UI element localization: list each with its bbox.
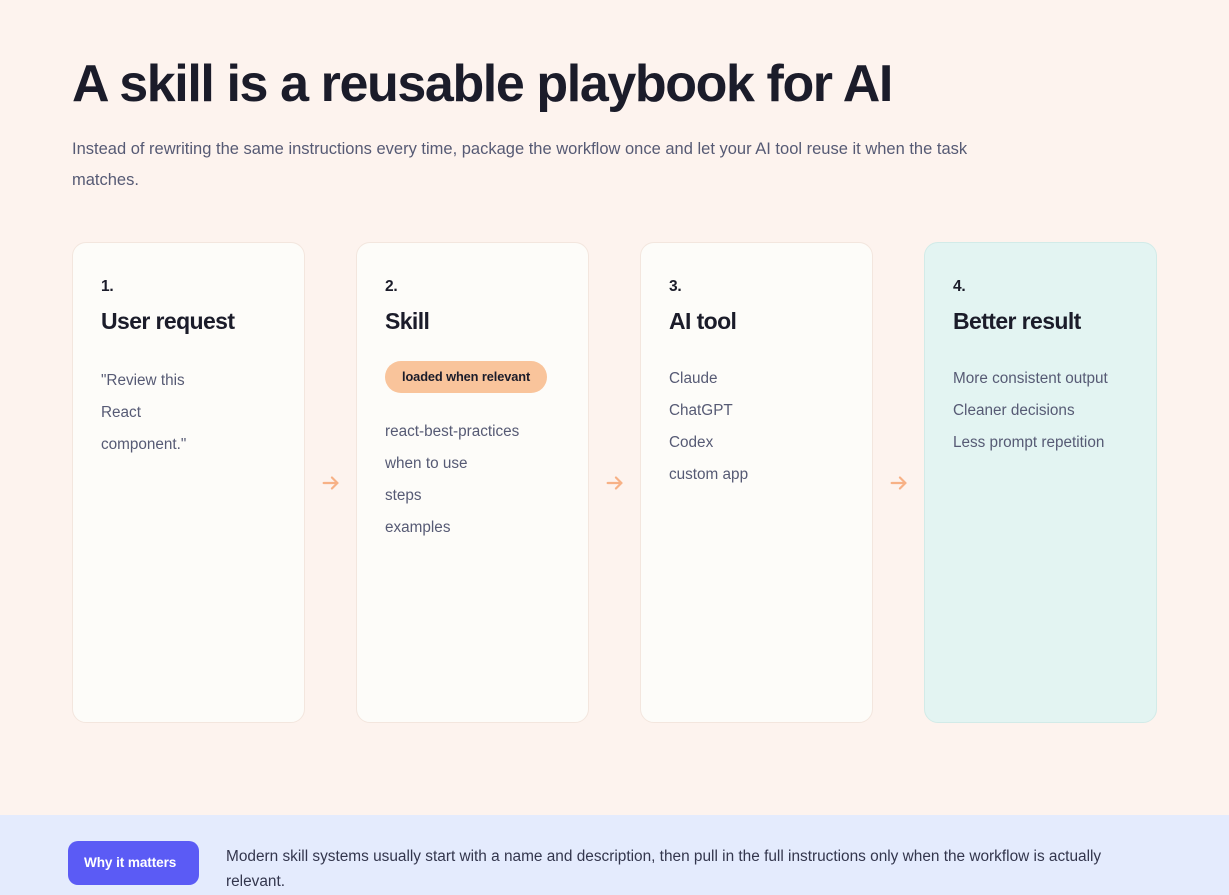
connector-1-to-2: [305, 242, 356, 723]
step-card-4[interactable]: 4. Better result More consistent output …: [924, 242, 1157, 723]
arrow-right-icon: [320, 472, 342, 494]
step-card-3[interactable]: 3. AI tool Claude ChatGPT Codex custom a…: [640, 242, 873, 723]
why-it-matters-label: Why it matters: [68, 841, 199, 885]
infographic-page: A skill is a reusable playbook for AI In…: [0, 0, 1229, 895]
list-item: ChatGPT: [669, 395, 844, 427]
step-number: 3.: [669, 278, 844, 296]
list-item: when to use: [385, 448, 560, 480]
step-title: AI tool: [669, 308, 844, 334]
step-item-list: More consistent output Cleaner decisions…: [953, 363, 1128, 459]
connector-2-to-3: [589, 242, 640, 723]
list-item: react-best-practices: [385, 416, 560, 448]
why-it-matters-text: Modern skill systems usually start with …: [226, 841, 1141, 895]
step-item-list: react-best-practices when to use steps e…: [385, 416, 560, 544]
connector-3-to-4: [873, 242, 924, 723]
status-badge: loaded when relevant: [385, 361, 547, 393]
page-subtitle: Instead of rewriting the same instructio…: [72, 134, 992, 195]
arrow-right-icon: [888, 472, 910, 494]
step-title: Skill: [385, 308, 560, 334]
list-item: custom app: [669, 459, 844, 491]
step-number: 1.: [101, 278, 276, 296]
list-item: steps: [385, 480, 560, 512]
step-number: 2.: [385, 278, 560, 296]
list-item: Codex: [669, 427, 844, 459]
main-content: A skill is a reusable playbook for AI In…: [0, 0, 1229, 815]
page-title: A skill is a reusable playbook for AI: [72, 57, 1157, 112]
list-item: More consistent output: [953, 363, 1128, 395]
step-title: Better result: [953, 308, 1128, 334]
list-item: Cleaner decisions: [953, 395, 1128, 427]
list-item: Less prompt repetition: [953, 427, 1128, 459]
steps-row: 1. User request "Review this React compo…: [72, 242, 1157, 723]
step-card-2[interactable]: 2. Skill loaded when relevant react-best…: [356, 242, 589, 723]
arrow-right-icon: [604, 472, 626, 494]
list-item: examples: [385, 512, 560, 544]
list-item: Claude: [669, 363, 844, 395]
step-quote: "Review this React component.": [101, 365, 211, 461]
step-title: User request: [101, 308, 276, 334]
step-card-1[interactable]: 1. User request "Review this React compo…: [72, 242, 305, 723]
why-it-matters-banner: Why it matters Modern skill systems usua…: [0, 815, 1229, 895]
step-number: 4.: [953, 278, 1128, 296]
step-item-list: Claude ChatGPT Codex custom app: [669, 363, 844, 491]
